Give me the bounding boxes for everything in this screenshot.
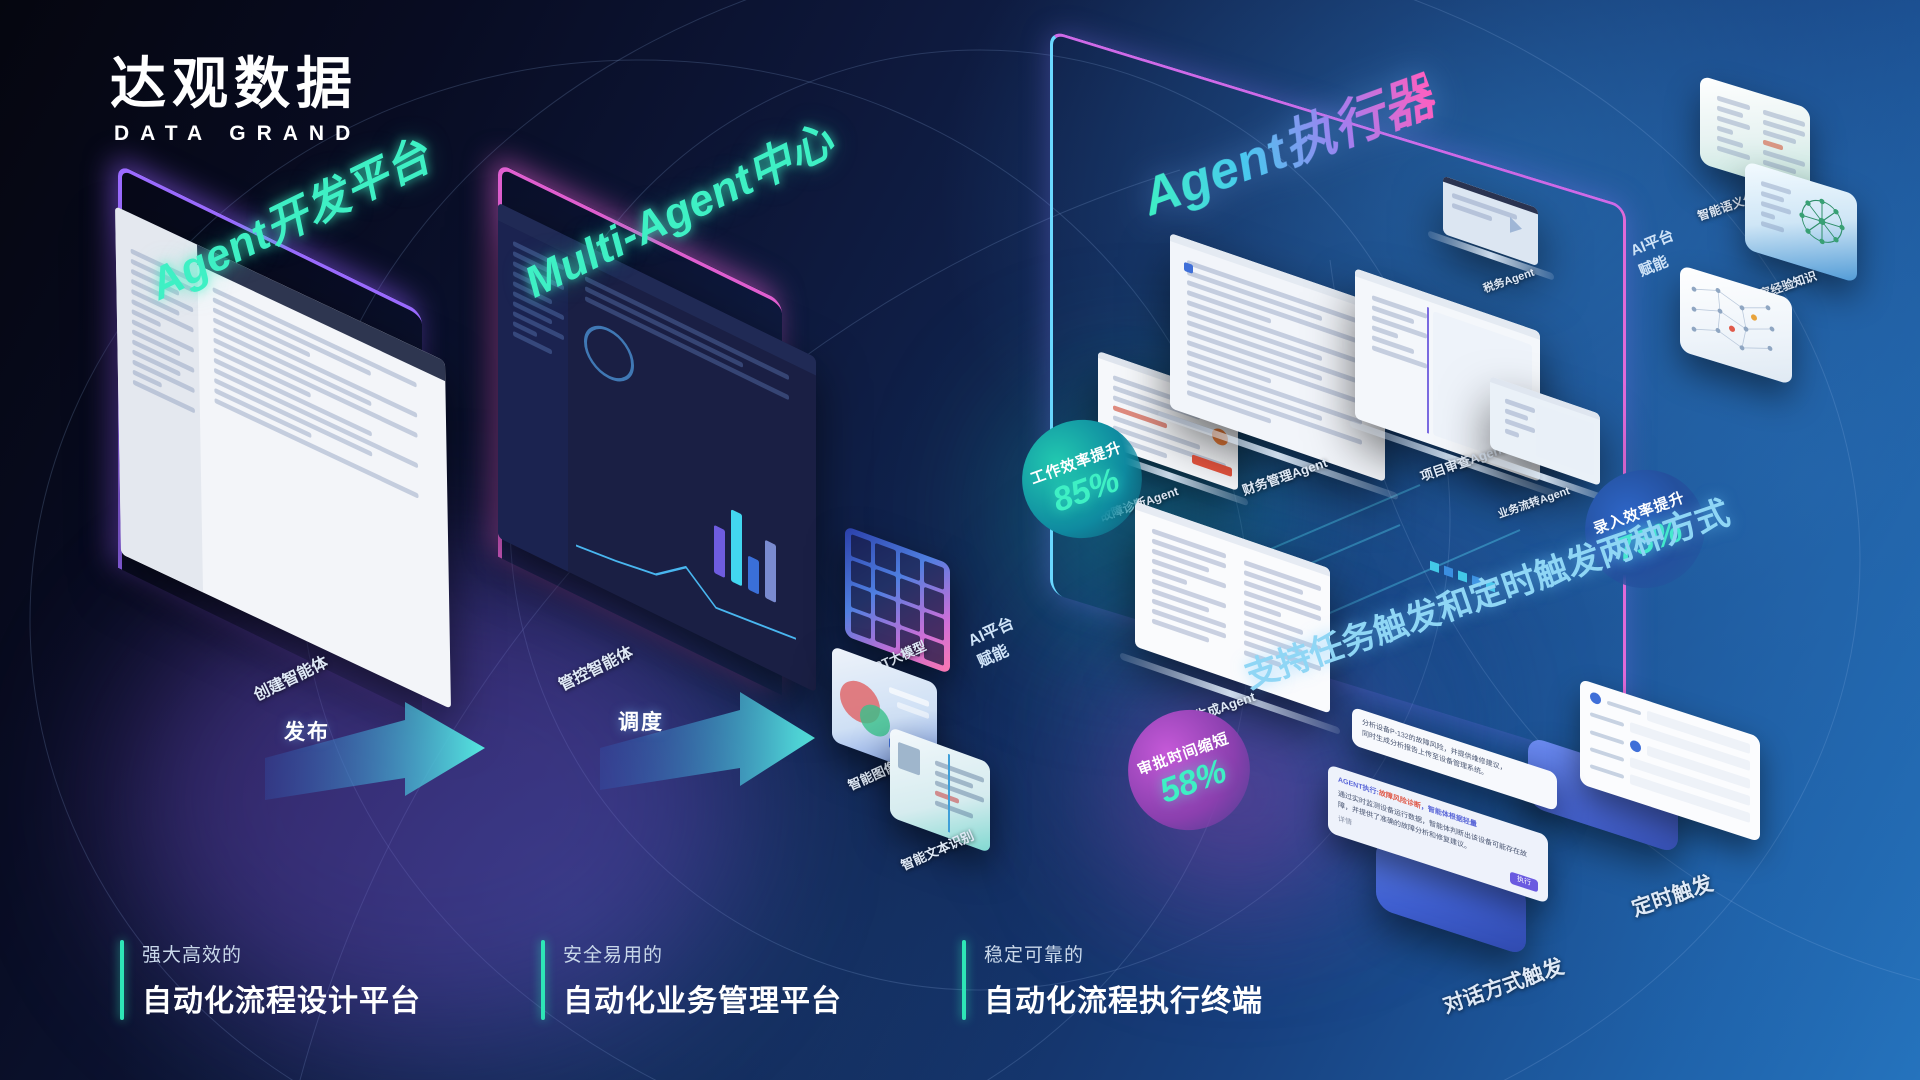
arrow-label-schedule: 调度 (618, 706, 664, 736)
feature-captions: 强大高效的 自动化流程设计平台 安全易用的 自动化业务管理平台 稳定可靠的 自动… (120, 940, 1263, 1020)
dev-platform-sublabel: 创建智能体 (249, 649, 331, 706)
stat-badge-approval: 审批时间缩短 58% (1111, 693, 1267, 847)
feature-main-2: 自动化流程执行终端 (984, 976, 1263, 1020)
feature-sub-1: 安全易用的 (563, 940, 842, 967)
feature-accent-bar-1 (541, 940, 545, 1020)
feature-accent-bar-0 (120, 940, 124, 1020)
feature-accent-bar-2 (962, 940, 966, 1020)
brand-name-cn: 达观数据 (110, 55, 361, 114)
card-text-recognition (890, 727, 990, 853)
feature-main-1: 自动化业务管理平台 (563, 976, 842, 1020)
card-expert-knowledge (1745, 161, 1857, 283)
arrow-label-publish: 发布 (284, 716, 330, 746)
chat-exec-button[interactable]: 执行 (1510, 871, 1538, 893)
feature-sub-2: 稳定可靠的 (984, 940, 1263, 967)
multi-agent-sublabel: 管控智能体 (554, 639, 636, 696)
ai-platform-label-middle: AI平台 赋能 (965, 612, 1028, 674)
infographic-canvas: 达观数据 DATA GRAND Agent开发平台 创建智能体 发布 (0, 0, 1920, 1080)
trigger-label-scheduled: 定时触发 (1627, 867, 1716, 923)
feature-main-0: 自动化流程设计平台 (142, 976, 421, 1020)
brand-logo: 达观数据 DATA GRAND (110, 55, 361, 146)
feature-item-0: 强大高效的 自动化流程设计平台 (120, 940, 421, 1020)
chat-more-link[interactable]: 详情 (1338, 814, 1352, 829)
brand-name-en: DATA GRAND (110, 122, 361, 146)
ai-platform-label-right: AI平台 赋能 (1627, 225, 1685, 282)
feature-item-1: 安全易用的 自动化业务管理平台 (541, 940, 842, 1020)
feature-sub-0: 强大高效的 (142, 940, 421, 967)
feature-item-2: 稳定可靠的 自动化流程执行终端 (962, 940, 1263, 1020)
trigger-label-chat: 对话方式触发 (1439, 950, 1568, 1019)
